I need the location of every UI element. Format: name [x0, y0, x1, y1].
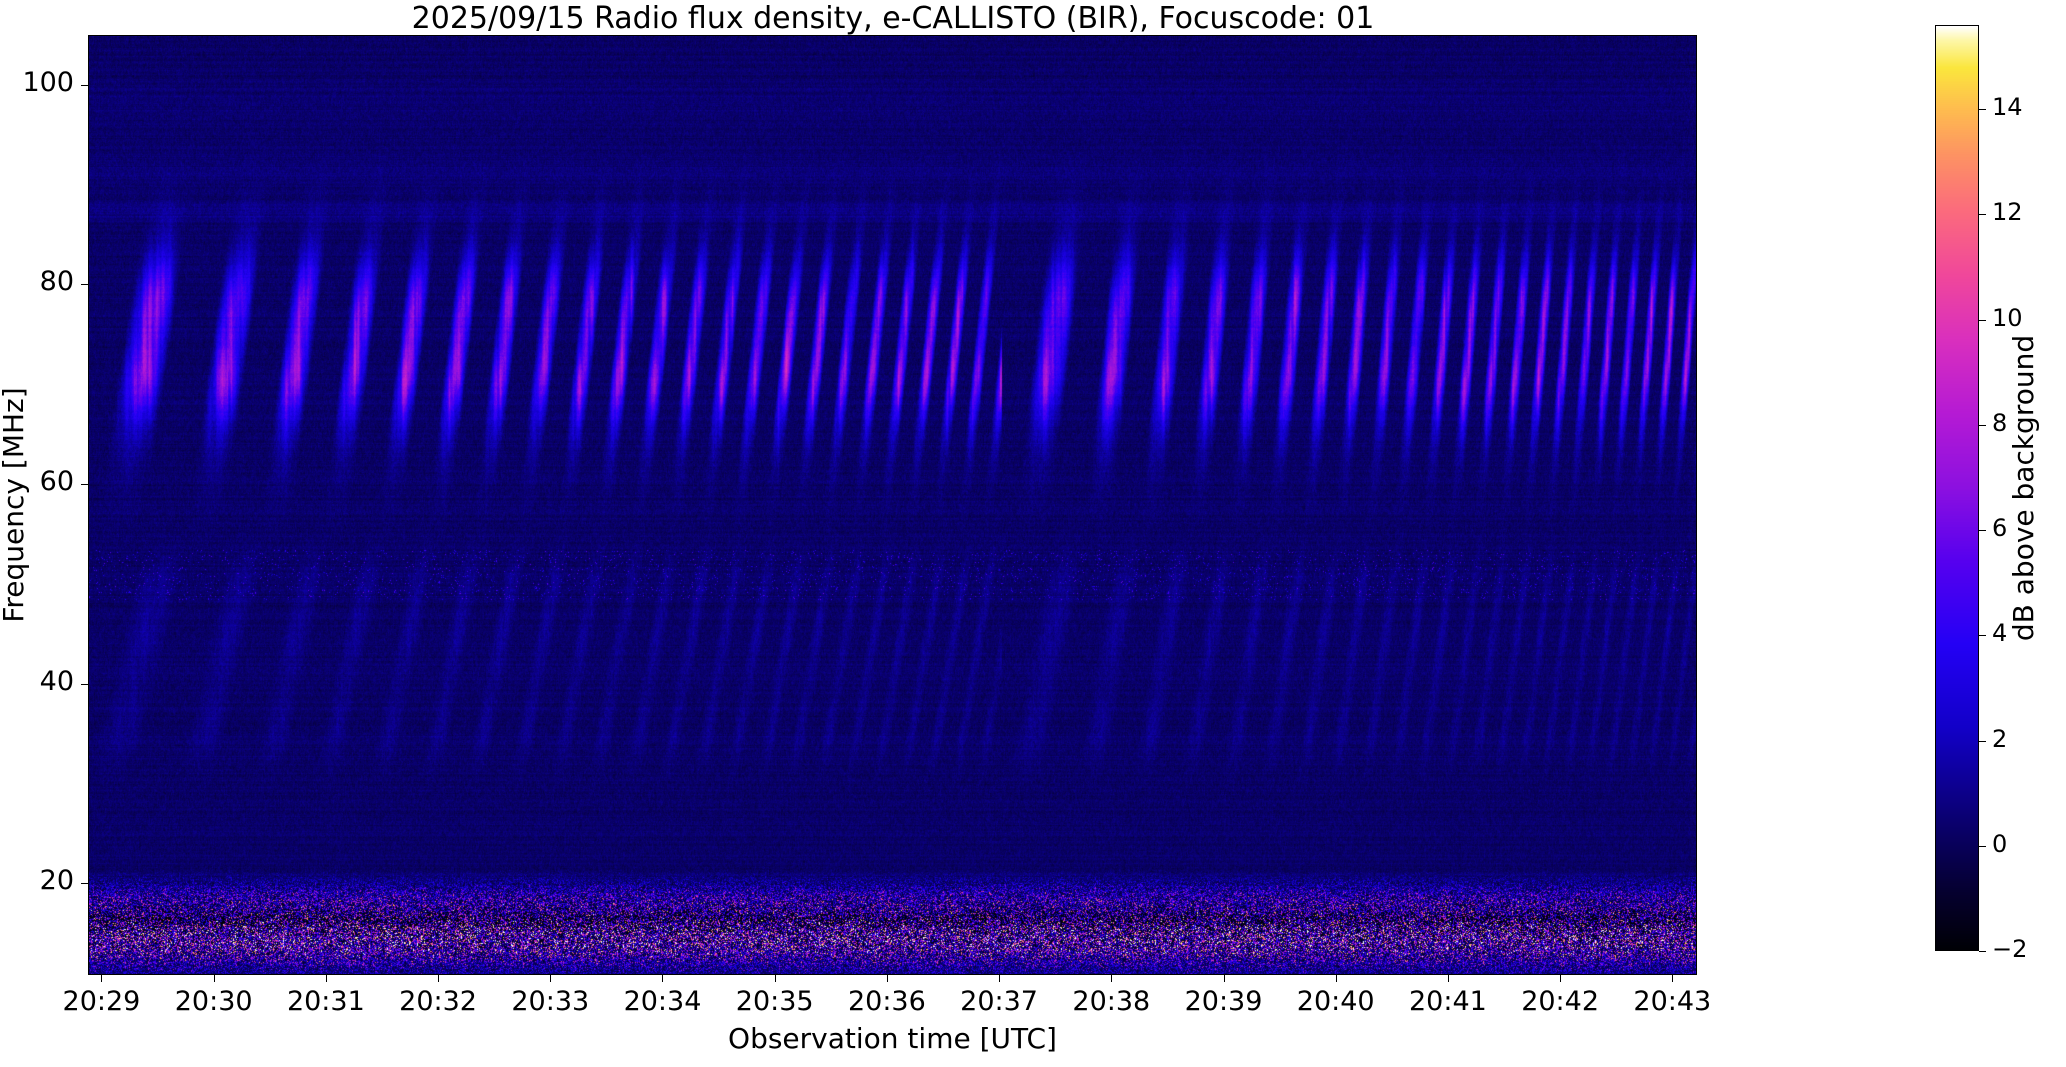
colorbar-tick-label: −2 — [1992, 935, 2027, 963]
colorbar-tick-mark — [1979, 741, 1986, 742]
x-tick-label: 20:31 — [287, 986, 365, 1017]
x-tick-mark — [1336, 975, 1337, 982]
x-tick-mark — [1224, 975, 1225, 982]
x-tick-mark — [101, 975, 102, 982]
colorbar-tick-mark — [1979, 109, 1986, 110]
x-tick-mark — [1111, 975, 1112, 982]
y-tick-mark — [81, 85, 88, 86]
x-tick-label: 20:29 — [63, 986, 141, 1017]
x-tick-label: 20:33 — [511, 986, 589, 1017]
x-tick-label: 20:40 — [1297, 986, 1375, 1017]
y-tick-label: 100 — [0, 67, 74, 98]
x-tick-mark — [887, 975, 888, 982]
x-tick-mark — [999, 975, 1000, 982]
colorbar-tick-mark — [1979, 530, 1986, 531]
spectrogram-image — [89, 36, 1697, 975]
x-tick-mark — [1560, 975, 1561, 982]
colorbar-tick-label: 4 — [1992, 619, 2007, 647]
x-tick-label: 20:42 — [1521, 986, 1599, 1017]
colorbar-label: dB above background — [2007, 335, 2040, 641]
colorbar-tick-mark — [1979, 214, 1986, 215]
x-tick-mark — [214, 975, 215, 982]
x-axis-label: Observation time [UTC] — [88, 1022, 1697, 1055]
x-tick-label: 20:30 — [175, 986, 253, 1017]
x-tick-label: 20:38 — [1072, 986, 1150, 1017]
colorbar-tick-mark — [1979, 425, 1986, 426]
colorbar-tick-label: 8 — [1992, 409, 2007, 437]
y-tick-label: 20 — [0, 865, 74, 896]
x-tick-label: 20:41 — [1409, 986, 1487, 1017]
x-tick-mark — [662, 975, 663, 982]
y-tick-mark — [81, 284, 88, 285]
x-tick-mark — [1448, 975, 1449, 982]
colorbar-tick-mark — [1979, 635, 1986, 636]
x-tick-label: 20:39 — [1185, 986, 1263, 1017]
y-tick-label: 40 — [0, 666, 74, 697]
colorbar — [1935, 25, 1979, 951]
figure-canvas: 2025/09/15 Radio flux density, e-CALLIST… — [0, 0, 2066, 1067]
x-tick-mark — [326, 975, 327, 982]
x-tick-label: 20:43 — [1633, 986, 1711, 1017]
x-tick-label: 20:35 — [736, 986, 814, 1017]
colorbar-tick-label: 0 — [1992, 830, 2007, 858]
colorbar-gradient — [1936, 26, 1978, 950]
x-tick-label: 20:34 — [624, 986, 702, 1017]
y-axis-label: Frequency [MHz] — [0, 387, 30, 622]
x-tick-label: 20:32 — [399, 986, 477, 1017]
colorbar-tick-mark — [1979, 846, 1986, 847]
colorbar-tick-label: 10 — [1992, 304, 2023, 332]
y-tick-mark — [81, 484, 88, 485]
x-tick-label: 20:36 — [848, 986, 926, 1017]
colorbar-tick-mark — [1979, 320, 1986, 321]
x-tick-mark — [1672, 975, 1673, 982]
spectrogram-axes — [88, 35, 1697, 975]
y-tick-mark — [81, 883, 88, 884]
colorbar-tick-label: 14 — [1992, 93, 2023, 121]
y-tick-label: 60 — [0, 466, 74, 497]
colorbar-tick-label: 6 — [1992, 514, 2007, 542]
colorbar-tick-label: 2 — [1992, 725, 2007, 753]
x-tick-mark — [550, 975, 551, 982]
y-tick-label: 80 — [0, 266, 74, 297]
colorbar-tick-label: 12 — [1992, 198, 2023, 226]
colorbar-tick-mark — [1979, 951, 1986, 952]
y-tick-mark — [81, 684, 88, 685]
chart-title: 2025/09/15 Radio flux density, e-CALLIST… — [88, 1, 1698, 36]
x-tick-mark — [775, 975, 776, 982]
x-tick-mark — [438, 975, 439, 982]
x-tick-label: 20:37 — [960, 986, 1038, 1017]
